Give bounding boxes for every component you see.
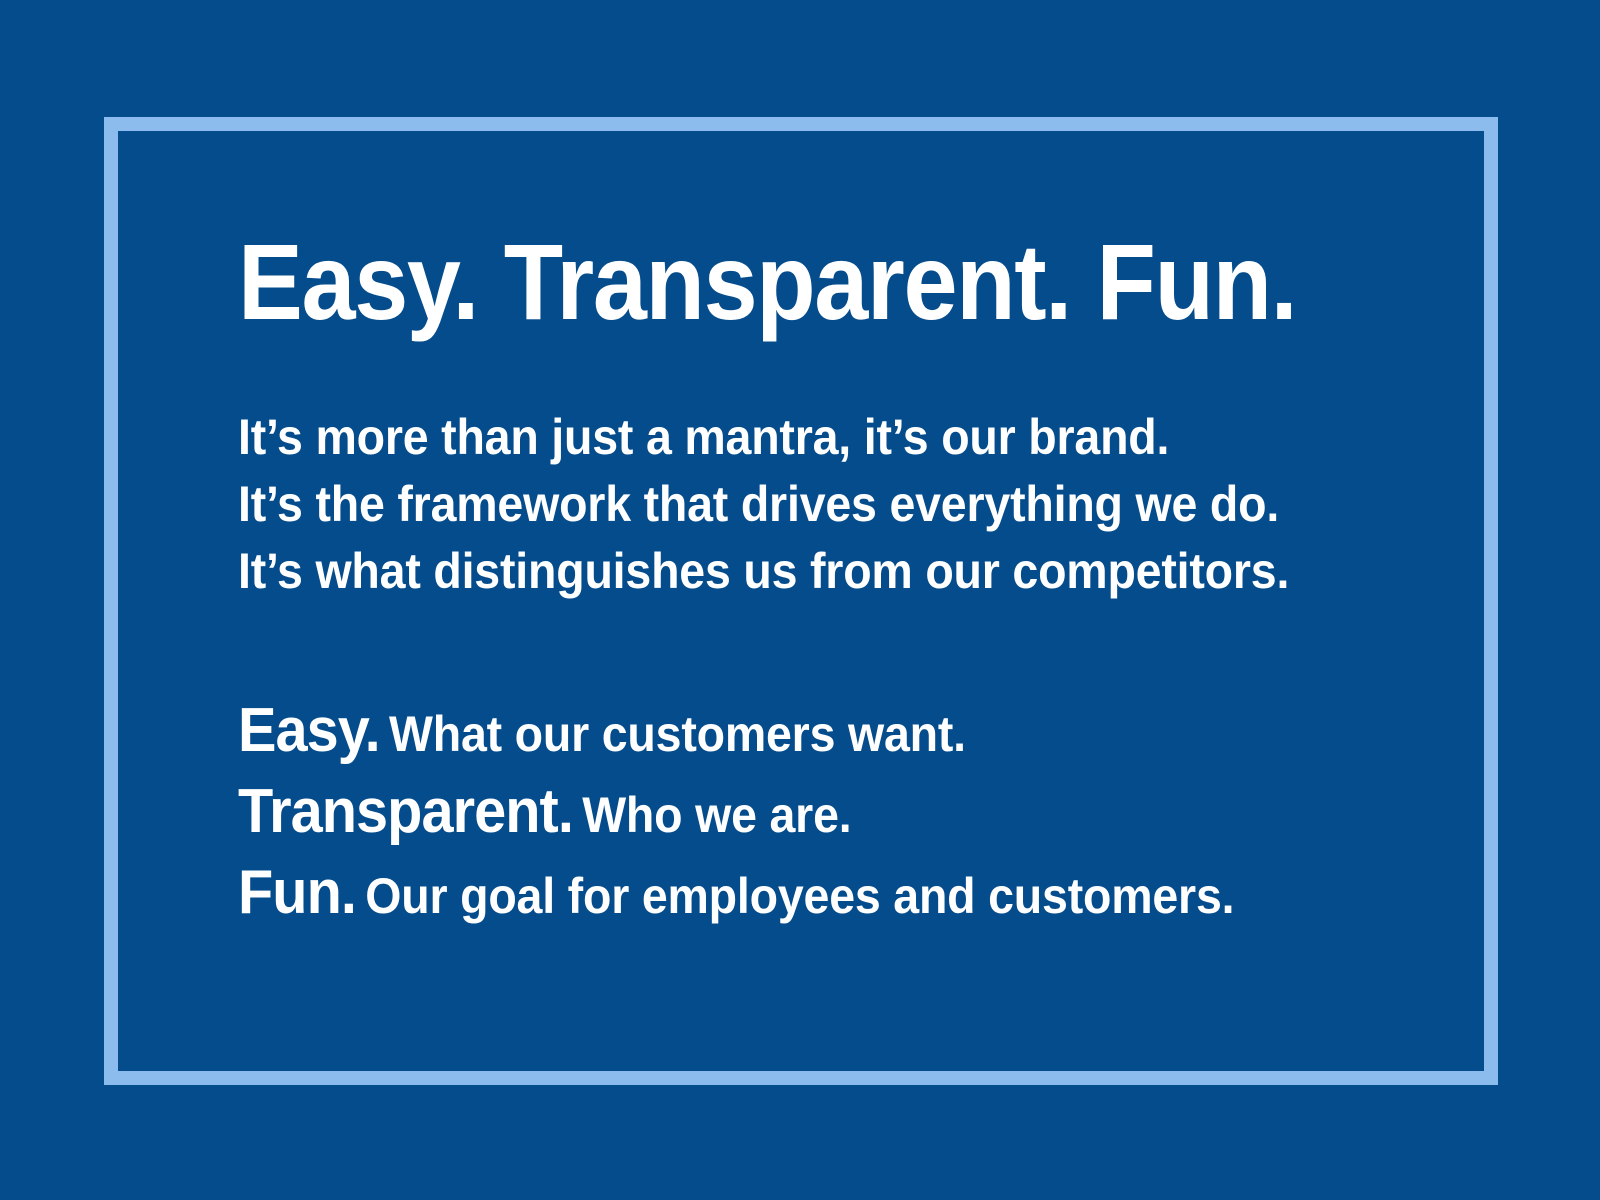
slide-canvas: Easy. Transparent. Fun. It’s more than j… — [0, 0, 1600, 1200]
intro-line-2: It’s the framework that drives everythin… — [238, 471, 1354, 538]
intro-paragraph: It’s more than just a mantra, it’s our b… — [238, 404, 1438, 605]
definition-term-fun: Fun. — [238, 858, 356, 927]
definition-description-easy: What our customers want. — [389, 706, 966, 762]
definition-description-fun: Our goal for employees and customers. — [365, 868, 1234, 924]
intro-line-3: It’s what distinguishes us from our comp… — [238, 538, 1354, 605]
definition-description-transparent: Who we are. — [582, 787, 851, 843]
definition-item-easy: Easy.What our customers want. — [238, 690, 1354, 771]
definition-term-easy: Easy. — [238, 696, 380, 765]
definition-item-fun: Fun.Our goal for employees and customers… — [238, 852, 1354, 933]
definition-list: Easy.What our customers want. Transparen… — [238, 690, 1438, 933]
intro-line-1: It’s more than just a mantra, it’s our b… — [238, 404, 1354, 471]
definition-item-transparent: Transparent.Who we are. — [238, 771, 1354, 852]
definition-term-transparent: Transparent. — [238, 777, 573, 846]
page-title: Easy. Transparent. Fun. — [238, 228, 1296, 336]
